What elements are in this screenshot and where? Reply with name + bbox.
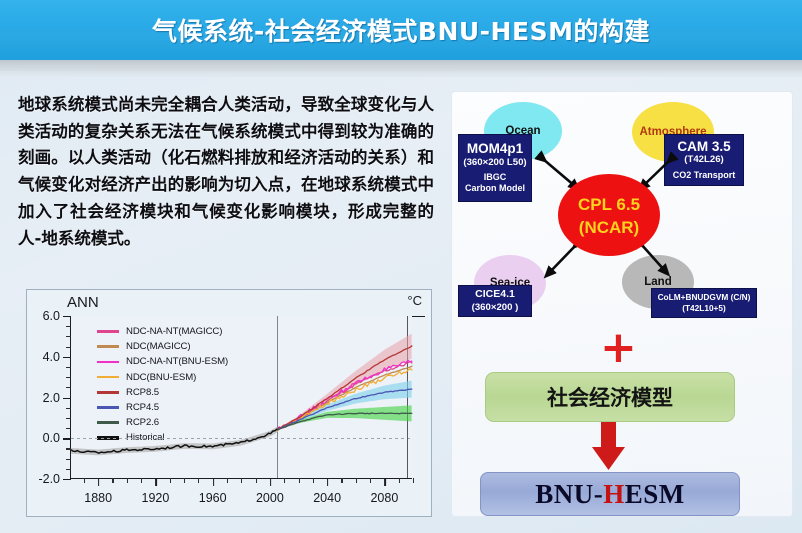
box-land-model: CoLM+BNUDGVM (C/N) (T42L10+5) <box>651 288 757 318</box>
result-highlight: H <box>603 479 625 510</box>
x-axis-tick: 1960 <box>199 478 227 505</box>
y-axis-tick: 4.0 <box>43 350 71 364</box>
banner-divider-lower <box>0 71 802 77</box>
x-axis-tick: 2080 <box>370 478 398 505</box>
x-axis-tick: 2040 <box>313 478 341 505</box>
y-axis-tick: 6.0 <box>43 309 71 323</box>
y-axis-tick: -2.0 <box>38 472 71 486</box>
result-suffix: ESM <box>625 479 685 510</box>
coupler-line2: (NCAR) <box>579 218 639 237</box>
x-axis-minor-tick <box>413 478 414 483</box>
chart-series <box>71 316 413 479</box>
coupler-ellipse <box>558 174 660 256</box>
box-land-title: CoLM+BNUDGVM (C/N) <box>658 292 751 303</box>
plus-icon: + <box>600 330 637 365</box>
box-atmosphere-sub2: CO2 Transport <box>673 170 736 181</box>
bnu-hesm-result-box: BNU-HESM <box>480 472 740 516</box>
plot-area: NDC-NA-NT(MAGICC)NDC(MAGICC)NDC-NA-NT(BN… <box>70 316 412 479</box>
description-paragraph: 地球系统模式尚未完全耦合人类活动，导致全球变化与人类活动的复杂关系无法在气候系统… <box>18 92 434 252</box>
box-ocean-sub: (360×200 L50) <box>463 157 526 169</box>
x-axis-tick: 2000 <box>256 478 284 505</box>
y-axis-tick: 0.0 <box>43 431 71 445</box>
box-ocean-model: MOM4p1 (360×200 L50) IBGCCarbon Model <box>458 134 532 202</box>
temperature-projection-chart: ANN °C NDC-NA-NT(MAGICC)NDC(MAGICC)NDC-N… <box>26 289 432 517</box>
banner-divider <box>0 60 802 71</box>
chart-title: ANN <box>67 294 99 311</box>
box-sea-ice-title: CICE4.1 <box>475 288 515 302</box>
page-title: 气候系统-社会经济模式BNU-HESM的构建 <box>152 12 650 48</box>
model-architecture-diagram: Ocean Atmosphere Sea-ice Land MOM4p1 (36… <box>452 92 792 516</box>
box-atmosphere-model: CAM 3.5 (T42L26) CO2 Transport <box>664 134 744 186</box>
chart-unit-label: °C <box>407 293 422 308</box>
box-atmosphere-title: CAM 3.5 <box>677 139 730 155</box>
result-prefix: BNU- <box>535 479 603 510</box>
y-axis-tick: 2.0 <box>43 391 71 405</box>
box-sea-ice-model: CICE4.1 (360×200 ) <box>458 285 532 317</box>
title-banner: 气候系统-社会经济模式BNU-HESM的构建 <box>0 0 802 60</box>
x-axis-tick: 1880 <box>84 478 112 505</box>
socioeconomic-model-box: 社会经济模型 <box>485 372 735 422</box>
box-land-sub: (T42L10+5) <box>682 303 726 314</box>
box-ocean-sub2: IBGCCarbon Model <box>465 172 525 195</box>
box-atmosphere-sub: (T42L26) <box>684 154 723 166</box>
socioeconomic-model-label: 社会经济模型 <box>547 382 673 412</box>
bubble-land-label: Land <box>644 276 671 288</box>
coupler-line1: CPL 6.5 <box>578 195 640 214</box>
box-ocean-title: MOM4p1 <box>467 141 523 157</box>
box-sea-ice-sub: (360×200 ) <box>472 302 519 314</box>
red-down-arrow <box>592 422 625 470</box>
x-axis-tick: 1920 <box>142 478 170 505</box>
